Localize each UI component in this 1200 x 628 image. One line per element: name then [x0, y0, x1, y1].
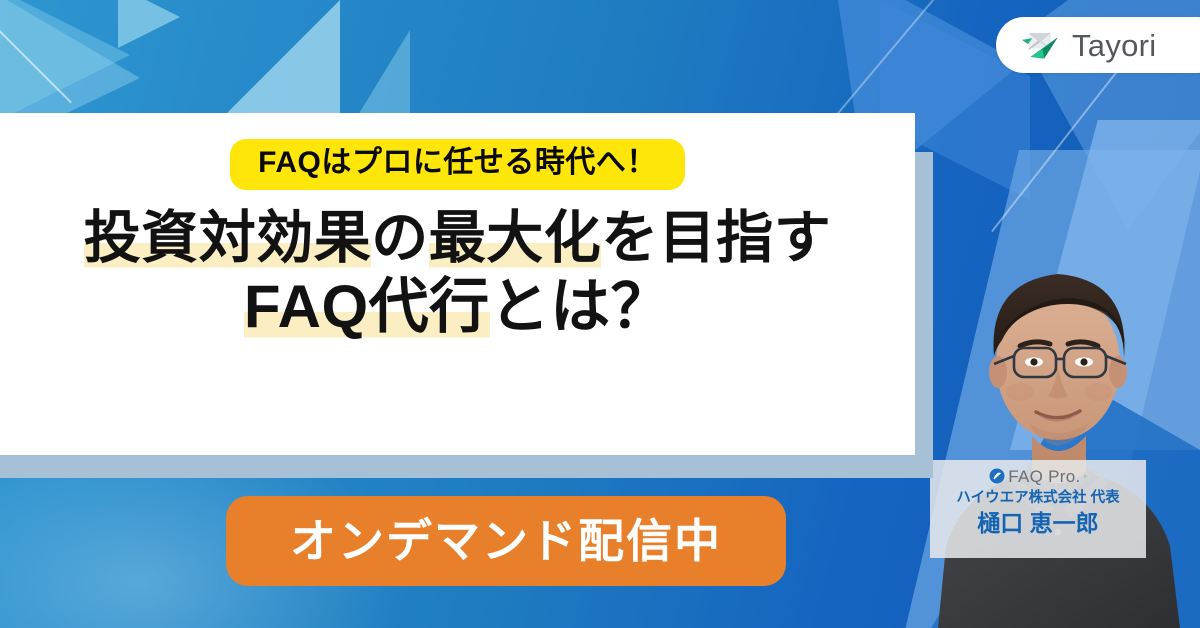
webinar-banner: FAQ Pro. ◦ ハイウエア株式会社 代表 樋口 恵一郎 FAQはプロに任せ…	[0, 0, 1200, 628]
title-line1-tail: を目指す	[601, 206, 831, 270]
tayori-logo[interactable]: Tayori	[996, 17, 1200, 73]
faq-pro-logo-text: FAQ Pro.	[1008, 468, 1080, 485]
title-line1-mid: の	[371, 206, 429, 270]
faq-pro-logo: FAQ Pro. ◦	[930, 465, 1146, 487]
decor-triangle-left-3	[118, 0, 180, 48]
on-demand-cta-button[interactable]: オンデマンド配信中	[226, 496, 786, 586]
title-line-1: 投資対効果の最大化を目指す	[84, 206, 832, 271]
title-highlight-a: 投資対効果	[84, 206, 372, 270]
paper-plane-envelope-icon	[1018, 28, 1060, 62]
page-title: 投資対効果の最大化を目指す FAQ代行とは？	[84, 206, 832, 341]
speaker-name: 樋口 恵一郎	[930, 510, 1146, 536]
faq-pro-registered-mark: ◦	[1084, 472, 1087, 481]
speaker-nameplate: FAQ Pro. ◦ ハイウエア株式会社 代表 樋口 恵一郎	[930, 460, 1146, 558]
cta-label: オンデマンド配信中	[290, 518, 722, 564]
title-line-2: FAQ代行とは？	[84, 273, 832, 341]
tayori-logo-word: Tayori	[1072, 30, 1157, 61]
title-highlight-c: FAQ代行	[244, 273, 490, 340]
speaker-portrait	[928, 196, 1200, 628]
headline-card: FAQはプロに任せる時代へ！ 投資対効果の最大化を目指す FAQ代行とは？	[0, 113, 915, 455]
speaker-company: ハイウエア株式会社 代表	[930, 490, 1146, 507]
title-highlight-b: 最大化	[429, 206, 602, 270]
faq-pro-circle-icon	[989, 468, 1005, 484]
title-line2-tail: とは？	[490, 273, 672, 340]
kicker-badge: FAQはプロに任せる時代へ！	[230, 139, 685, 190]
